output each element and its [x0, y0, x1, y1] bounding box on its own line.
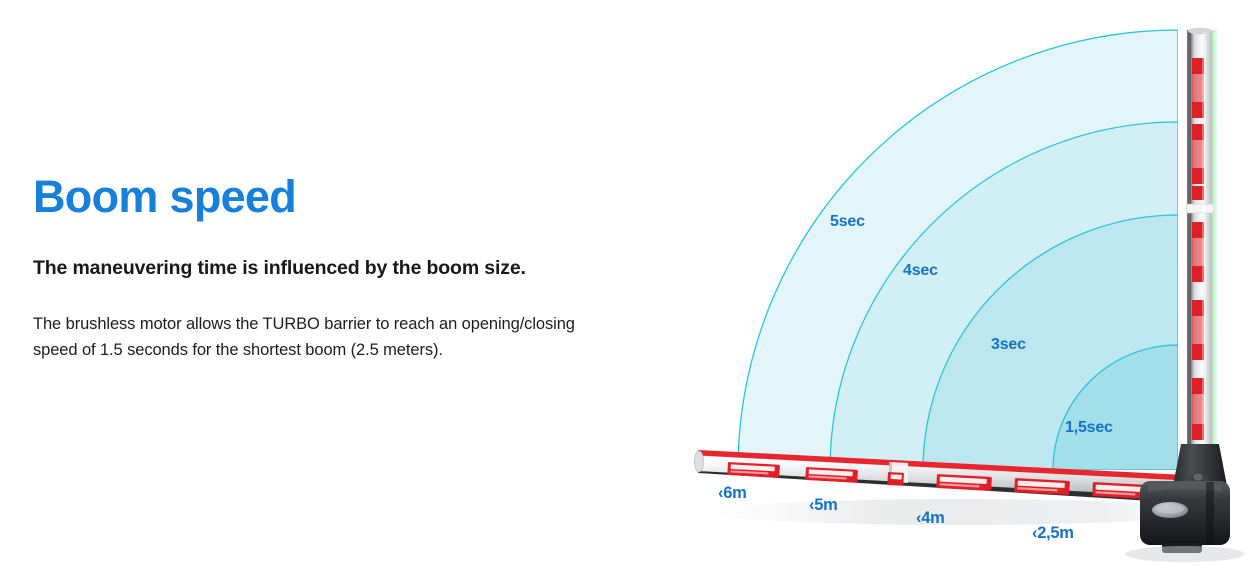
- housing-side-panel-seam: [1206, 482, 1214, 544]
- boom-length-label-4m: ‹4m: [916, 509, 944, 528]
- speed-label-4sec: 4sec: [903, 262, 938, 280]
- speed-label-1-5sec: 1,5sec: [1065, 419, 1113, 437]
- pivot-hub-highlight: [1193, 473, 1203, 480]
- boom-speed-section: Boom speed The maneuvering time is influ…: [0, 0, 1253, 567]
- boom-length-label-6m: ‹6m: [718, 484, 746, 503]
- boom-left-end-cap: [695, 451, 704, 472]
- section-subheading: The maneuvering time is influenced by th…: [33, 222, 633, 281]
- vertical-boom-left-edge: [1187, 30, 1191, 455]
- vertical-boom-joint: [1186, 204, 1214, 213]
- vertical-boom-top-cap: [1188, 28, 1212, 35]
- page-title: Boom speed: [33, 172, 633, 222]
- speed-label-3sec: 3sec: [991, 336, 1026, 354]
- speed-label-5sec: 5sec: [830, 213, 865, 231]
- housing-ground-shadow: [1125, 546, 1245, 562]
- text-column: Boom speed The maneuvering time is influ…: [33, 172, 633, 363]
- boom-length-label-5m: ‹5m: [809, 496, 837, 515]
- section-body-text: The brushless motor allows the TURBO bar…: [33, 282, 608, 363]
- vertical-boom: [1186, 28, 1219, 455]
- boom-length-label-2-5m: ‹2,5m: [1032, 524, 1074, 543]
- brand-emblem-inner: [1156, 505, 1184, 514]
- boom-ground-shadow: [710, 499, 1210, 525]
- speed-band-group: [738, 30, 1178, 470]
- vertical-boom-highlight: [1202, 32, 1206, 452]
- barrier-sweep-illustration: [640, 0, 1253, 567]
- boom-speed-diagram: 5sec 4sec 3sec 1,5sec ‹6m ‹5m ‹4m ‹2,5m: [640, 0, 1253, 567]
